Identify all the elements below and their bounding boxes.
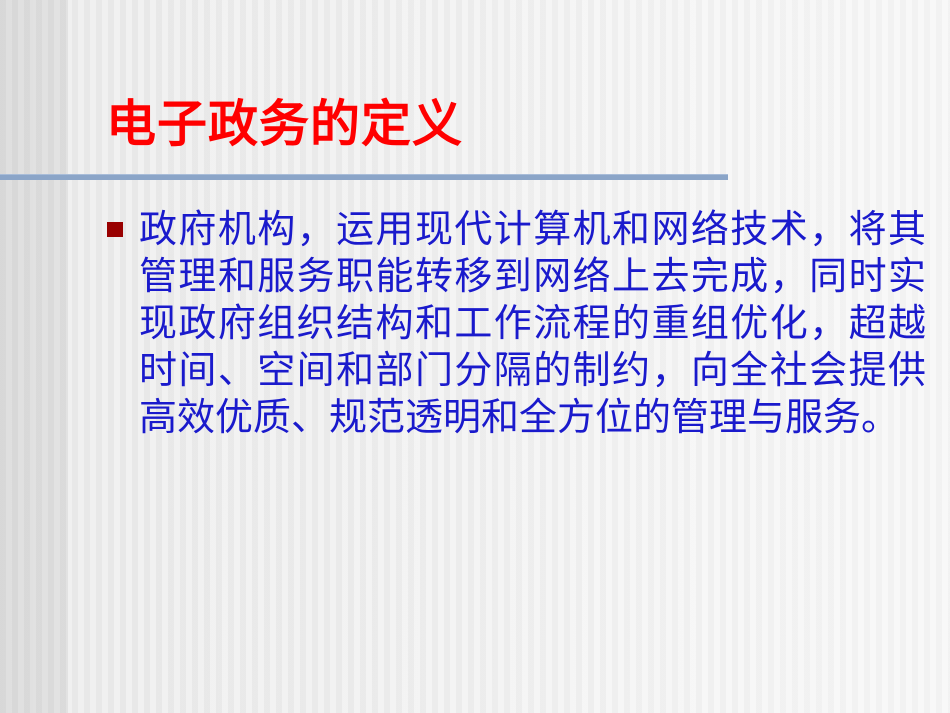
slide-body: 政府机构，运用现代计算机和网络技术，将其管理和服务职能转移到网络上去完成，同时实… [106, 206, 926, 441]
presentation-slide: 电子政务的定义 政府机构，运用现代计算机和网络技术，将其管理和服务职能转移到网络… [0, 0, 950, 713]
title-divider-line [0, 174, 728, 180]
slide-background-left-shade [0, 0, 68, 713]
square-bullet-icon [107, 222, 123, 237]
slide-title: 电子政务的定义 [106, 92, 463, 156]
list-item: 政府机构，运用现代计算机和网络技术，将其管理和服务职能转移到网络上去完成，同时实… [106, 206, 926, 441]
bullet-paragraph-text: 政府机构，运用现代计算机和网络技术，将其管理和服务职能转移到网络上去完成，同时实… [139, 206, 926, 441]
